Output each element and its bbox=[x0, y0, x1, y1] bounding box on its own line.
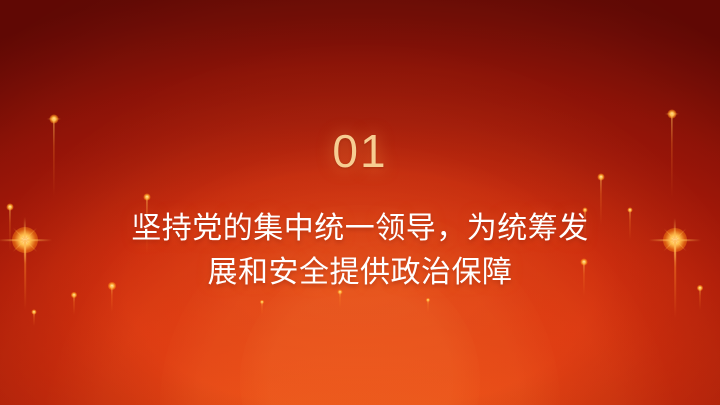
title-line-1: 坚持党的集中统一领导，为统筹发 bbox=[0, 207, 720, 251]
slide-content: 01 坚持党的集中统一领导，为统筹发 展和安全提供政治保障 bbox=[0, 0, 720, 405]
page-title: 坚持党的集中统一领导，为统筹发 展和安全提供政治保障 bbox=[0, 207, 720, 294]
section-number: 01 bbox=[0, 128, 720, 174]
title-line-2: 展和安全提供政治保障 bbox=[0, 251, 720, 295]
presentation-slide: 01 坚持党的集中统一领导，为统筹发 展和安全提供政治保障 bbox=[0, 0, 720, 405]
